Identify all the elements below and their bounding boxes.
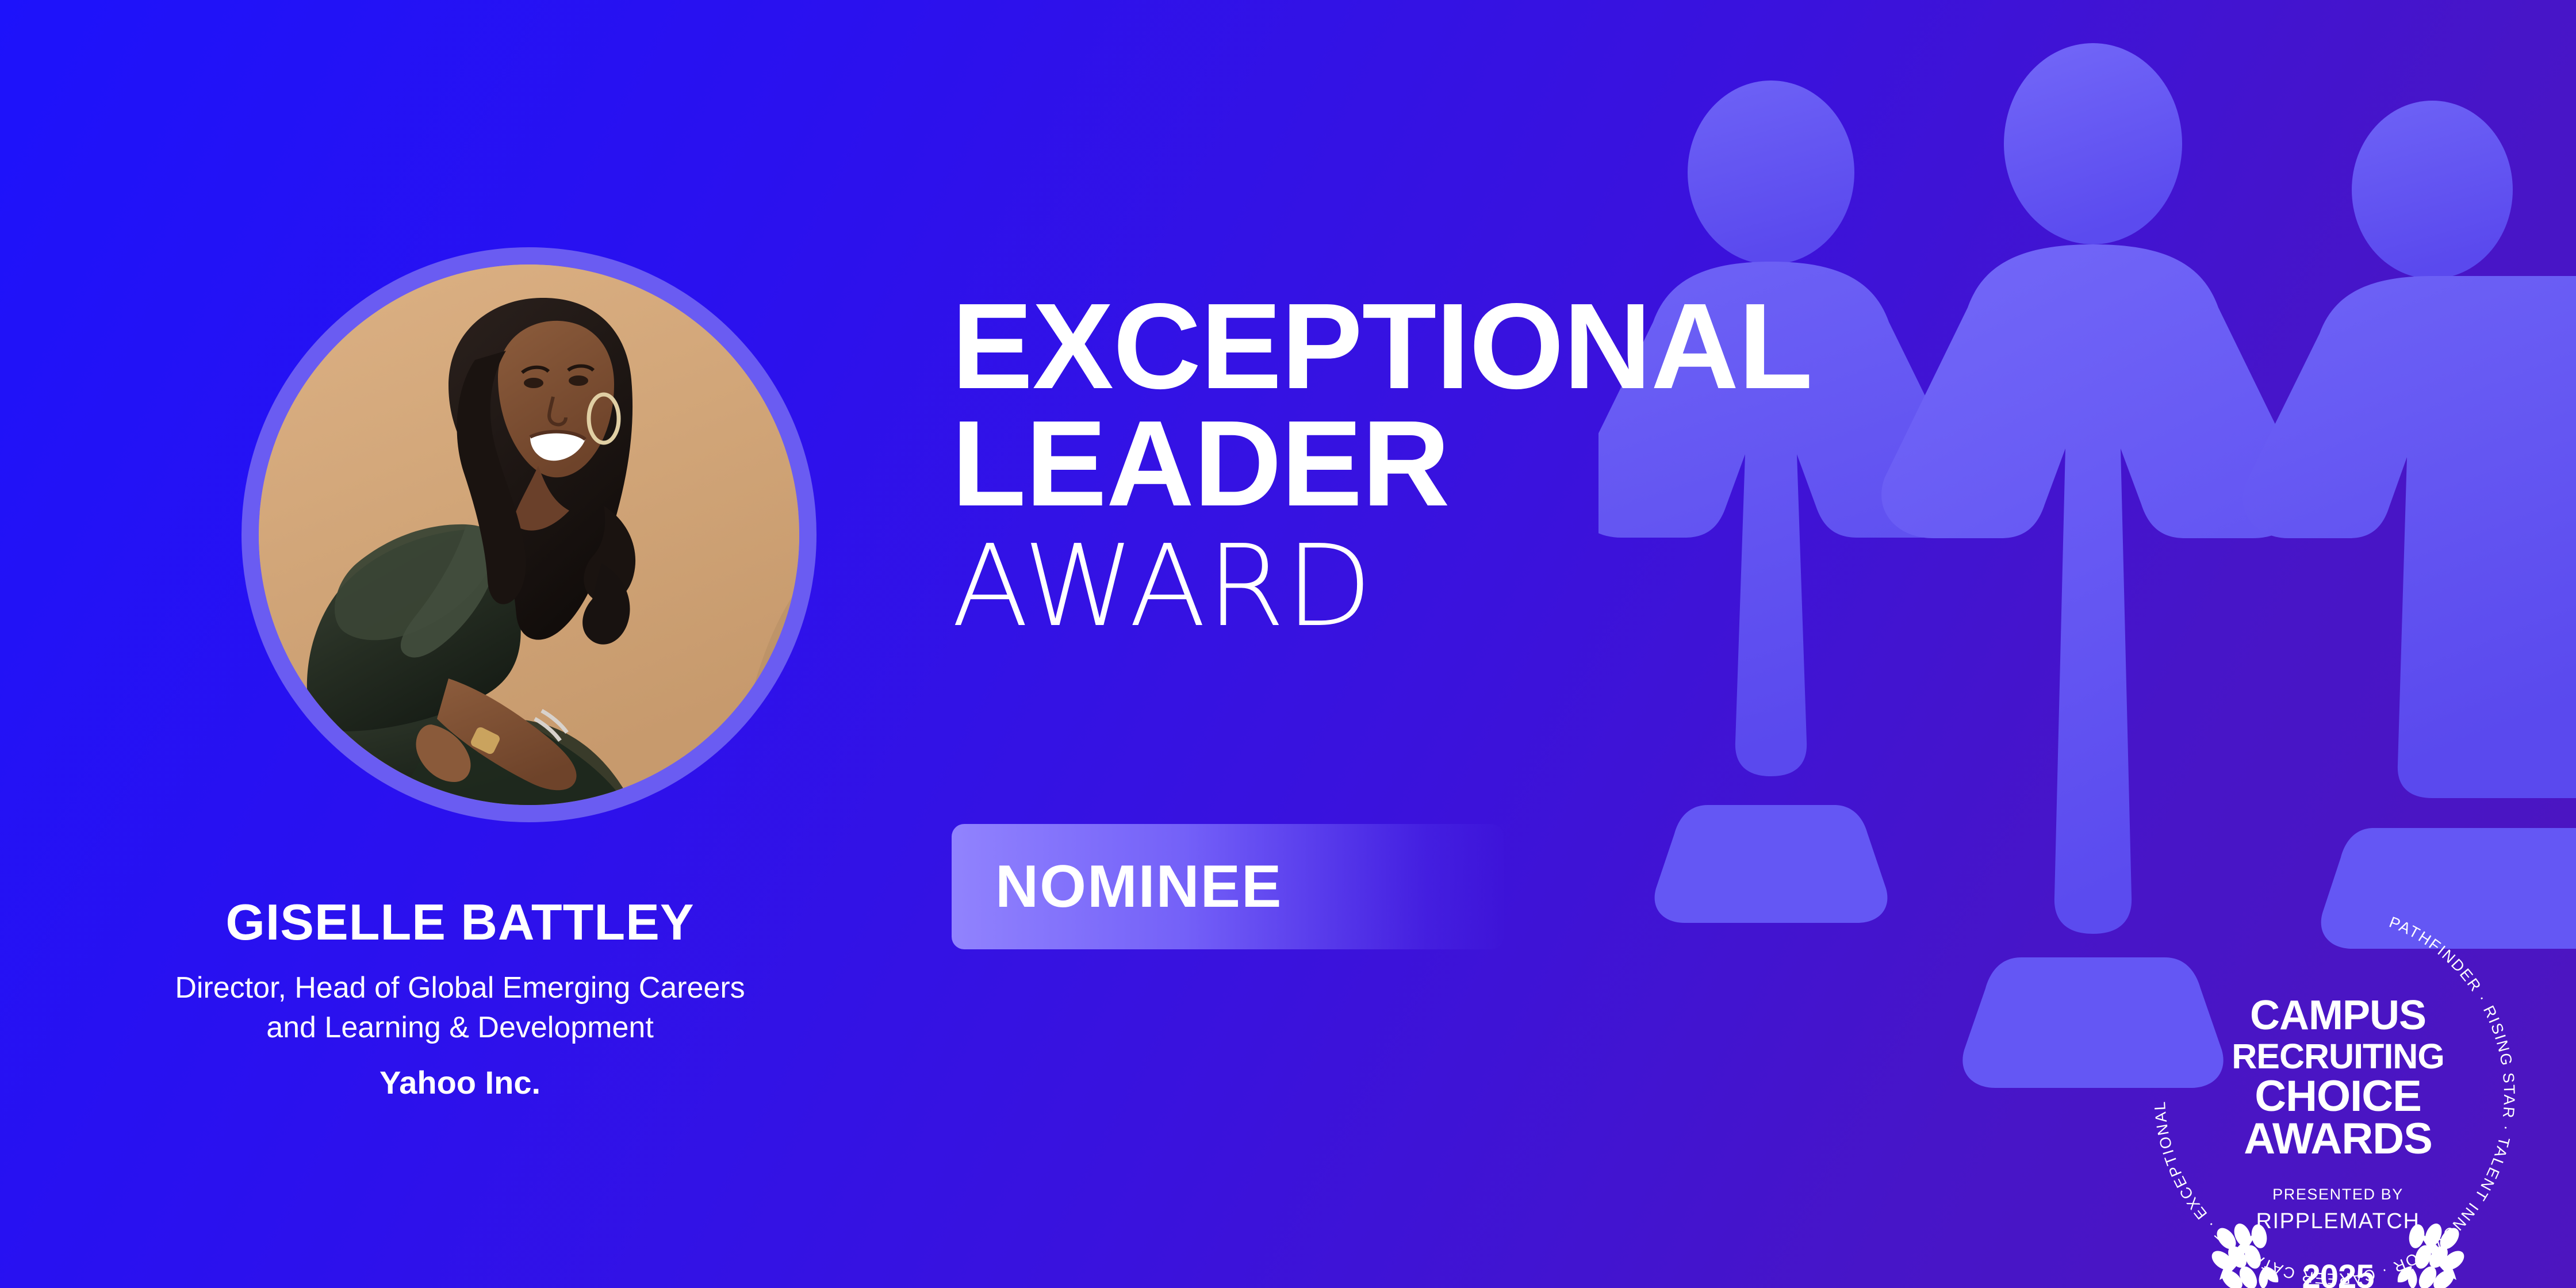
nominee-portrait	[241, 247, 816, 822]
seal-title-line-3: CHOICE	[2255, 1072, 2421, 1121]
campus-recruiting-choice-awards-seal: PATHFINDER · RISING STAR · TALENT INNOVA…	[2127, 885, 2541, 1288]
portrait-photo	[259, 264, 799, 805]
award-headline: EXCEPTIONAL LEADER AWARD	[952, 287, 2274, 645]
nominee-details: GISELLE BATTLEY Director, Head of Global…	[0, 897, 920, 1099]
nominee-organization: Yahoo Inc.	[0, 1067, 920, 1099]
award-title-line-1: EXCEPTIONAL	[952, 287, 2274, 405]
nominee-title-line-2: and Learning & Development	[266, 1011, 654, 1044]
seal-title-line-4: AWARDS	[2244, 1114, 2432, 1163]
nominee-title-line-1: Director, Head of Global Emerging Career…	[175, 971, 745, 1005]
award-title-line-3: AWARD	[952, 530, 2274, 645]
award-title-line-2: LEADER	[952, 405, 2274, 522]
seal-year: 2025	[2302, 1258, 2374, 1288]
award-nominee-banner: GISELLE BATTLEY Director, Head of Global…	[0, 0, 2576, 1288]
nominee-badge-label: NOMINEE	[995, 857, 1282, 917]
seal-title-line-2: RECRUITING	[2232, 1037, 2444, 1076]
seal-presenter: RIPPLEMATCH	[2256, 1209, 2420, 1233]
nominee-name: GISELLE BATTLEY	[0, 897, 920, 948]
nominee-title: Director, Head of Global Emerging Career…	[0, 968, 920, 1047]
person-figure-right	[2243, 101, 2576, 949]
nominee-status-badge: NOMINEE	[952, 824, 1504, 949]
seal-title-line-1: CAMPUS	[2250, 992, 2426, 1038]
seal-presented-by-label: PRESENTED BY	[2272, 1186, 2403, 1203]
